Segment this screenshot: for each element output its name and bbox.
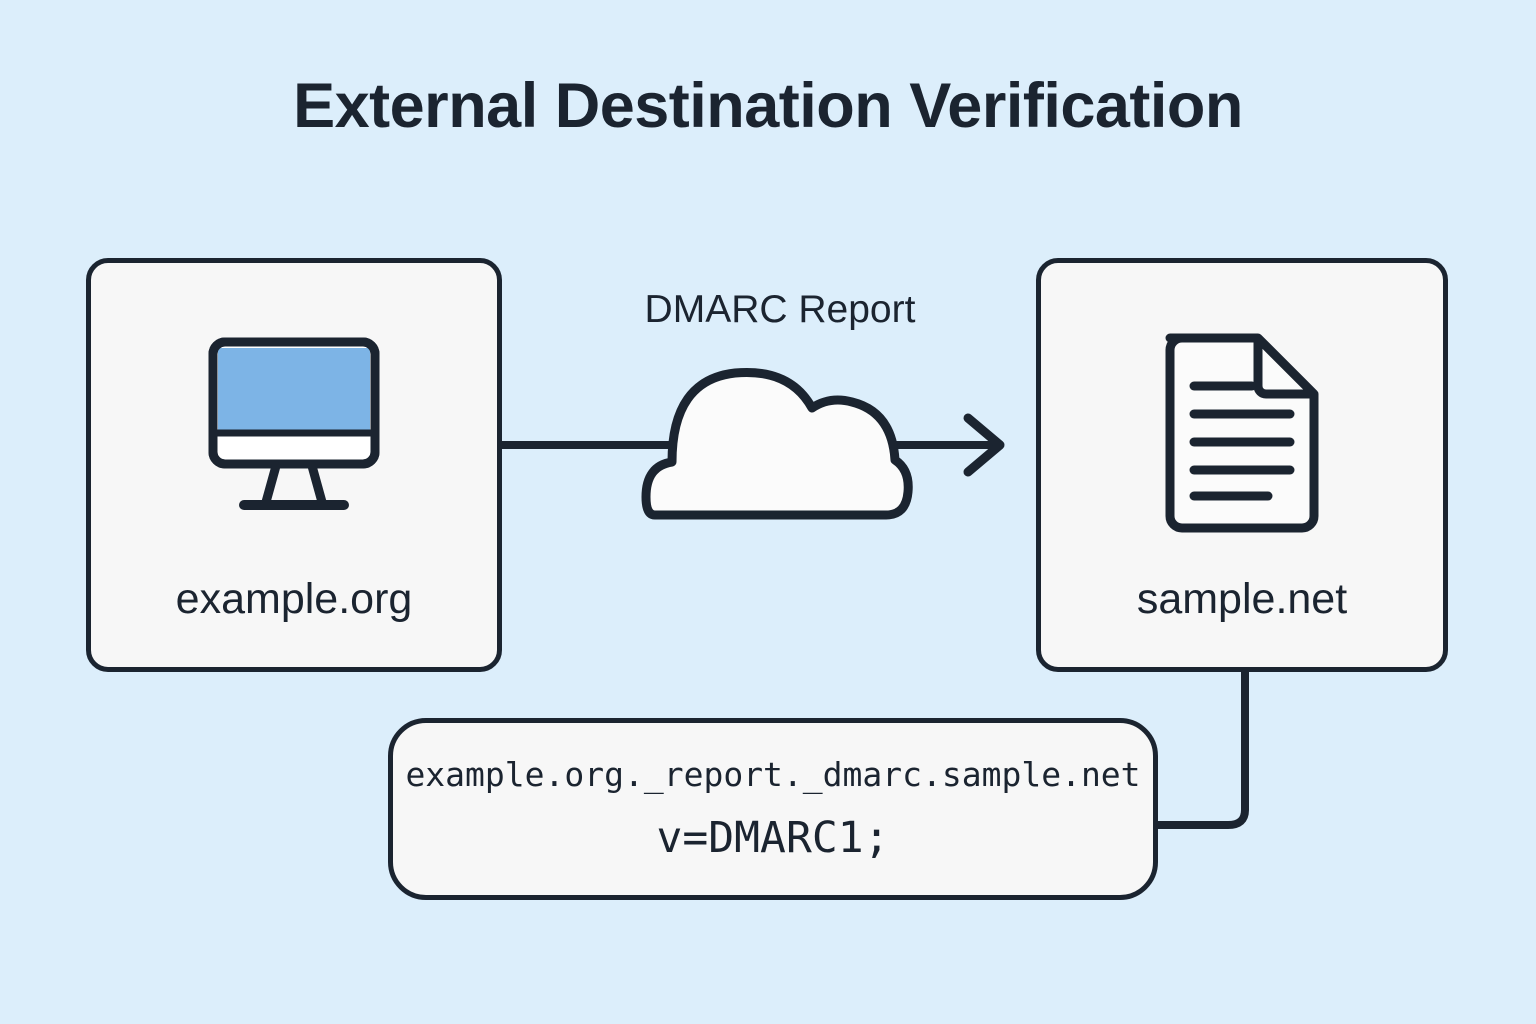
dns-record-name: example.org._report._dmarc.sample.net [405, 758, 1140, 791]
flow-label: DMARC Report [590, 290, 970, 329]
cloud-icon [646, 372, 908, 515]
source-label: example.org [91, 578, 497, 621]
destination-card[interactable]: sample.net [1036, 258, 1448, 672]
source-card[interactable]: example.org [86, 258, 502, 672]
destination-label: sample.net [1041, 578, 1443, 621]
diagram-canvas: External Destination Verification exampl… [0, 0, 1536, 1024]
monitor-icon [91, 315, 497, 545]
dns-connector-line [1158, 672, 1245, 825]
document-icon [1041, 315, 1443, 545]
dns-record-box[interactable]: example.org._report._dmarc.sample.net v=… [388, 718, 1158, 900]
dns-record-value: v=DMARC1; [657, 817, 890, 860]
